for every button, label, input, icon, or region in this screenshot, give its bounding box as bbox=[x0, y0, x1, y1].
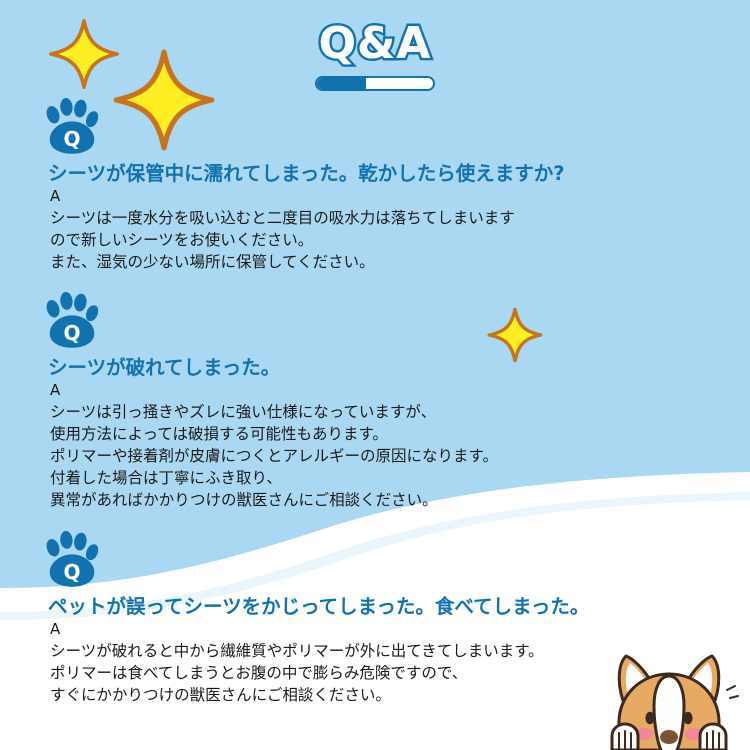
infographic-canvas: Q&A Q&A Q シーツが保管中に濡れてしまった。乾かしたら使えますか? A … bbox=[0, 0, 750, 750]
answer-text: シーツは一度水分を吸い込むと二度目の吸水力は落ちてしまいます ので新しいシーツを… bbox=[50, 207, 734, 273]
answer-text: シーツは引っ掻きやズレに強い仕様になっていますが、 使用方法によっては破損する可… bbox=[50, 401, 734, 511]
paw-print-icon: Q bbox=[44, 98, 100, 156]
paw-badge-letter: Q bbox=[63, 127, 80, 151]
qa-item: Q シーツが保管中に濡れてしまった。乾かしたら使えますか? A シーツは一度水分… bbox=[44, 98, 734, 273]
paw-print-icon: Q bbox=[44, 531, 100, 589]
answer-line: 異常があればかかりつけの獣医さんにご相談ください。 bbox=[50, 489, 734, 511]
progress-bar-fill bbox=[317, 78, 366, 89]
paw-badge-letter: Q bbox=[63, 560, 80, 584]
answer-label: A bbox=[50, 381, 734, 400]
corgi-dog-illustration bbox=[594, 630, 744, 750]
paw-print-icon: Q bbox=[44, 292, 100, 350]
answer-line: 付着した場合は丁寧にふき取り、 bbox=[50, 467, 734, 489]
question-text: ペットが誤ってシーツをかじってしまった。食べてしまった。 bbox=[48, 595, 734, 619]
answer-line: また、湿気の少ない場所に保管してください。 bbox=[50, 251, 734, 273]
answer-label: A bbox=[50, 187, 734, 206]
page-title: Q&A Q&A bbox=[319, 22, 432, 66]
paw-badge-letter: Q bbox=[63, 321, 80, 345]
answer-line: シーツは引っ掻きやズレに強い仕様になっていますが、 bbox=[50, 401, 734, 423]
answer-line: シーツは一度水分を吸い込むと二度目の吸水力は落ちてしまいます bbox=[50, 207, 734, 229]
answer-line: 使用方法によっては破損する可能性もあります。 bbox=[50, 423, 734, 445]
answer-line: ので新しいシーツをお使いください。 bbox=[50, 229, 734, 251]
page-header: Q&A Q&A bbox=[0, 22, 750, 91]
page-title-text-fill: Q&A bbox=[319, 22, 432, 66]
question-text: シーツが破れてしまった。 bbox=[48, 356, 734, 380]
answer-line: ポリマーや接着剤が皮膚につくとアレルギーの原因になります。 bbox=[50, 445, 734, 467]
progress-bar bbox=[315, 76, 435, 91]
qa-item: Q シーツが破れてしまった。 A シーツは引っ掻きやズレに強い仕様になっています… bbox=[44, 292, 734, 511]
question-text: シーツが保管中に濡れてしまった。乾かしたら使えますか? bbox=[48, 162, 734, 186]
